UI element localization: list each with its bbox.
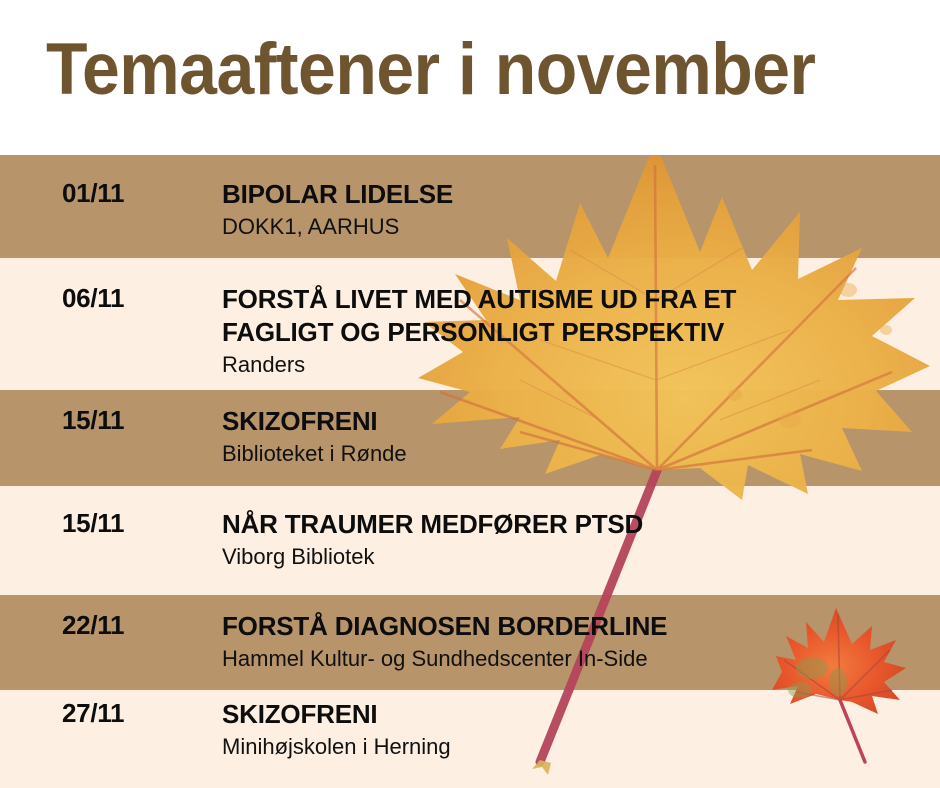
event-title: FORSTÅ LIVET MED AUTISME UD FRA ET FAGLI… [222,283,930,349]
poster-canvas: 01/11 BIPOLAR LIDELSE DOKK1, AARHUS 06/1… [0,0,940,788]
event-date: 15/11 [62,405,124,436]
event-body: SKIZOFRENI Biblioteket i Rønde [222,405,930,468]
event-date: 27/11 [62,698,124,729]
event-body: BIPOLAR LIDELSE DOKK1, AARHUS [222,178,930,241]
event-title: NÅR TRAUMER MEDFØRER PTSD [222,508,930,541]
event-date: 15/11 [62,508,124,539]
event-title: FORSTÅ DIAGNOSEN BORDERLINE [222,610,930,643]
event-body: FORSTÅ LIVET MED AUTISME UD FRA ET FAGLI… [222,283,930,379]
event-venue: DOKK1, AARHUS [222,213,930,241]
event-venue: Hammel Kultur- og Sundhedscenter In-Side [222,645,930,673]
event-date: 22/11 [62,610,124,641]
event-body: FORSTÅ DIAGNOSEN BORDERLINE Hammel Kultu… [222,610,930,673]
event-title: SKIZOFRENI [222,698,930,731]
page-title: Temaaftener i november [46,27,816,113]
event-body: SKIZOFRENI Minihøjskolen i Herning [222,698,930,761]
event-body: NÅR TRAUMER MEDFØRER PTSD Viborg Bibliot… [222,508,930,571]
event-date: 01/11 [62,178,124,209]
event-date: 06/11 [62,283,124,314]
event-venue: Viborg Bibliotek [222,543,930,571]
event-venue: Biblioteket i Rønde [222,440,930,468]
event-title: SKIZOFRENI [222,405,930,438]
poster-header: Temaaftener i november [0,0,940,155]
event-title: BIPOLAR LIDELSE [222,178,930,211]
event-venue: Randers [222,351,930,379]
event-venue: Minihøjskolen i Herning [222,733,930,761]
